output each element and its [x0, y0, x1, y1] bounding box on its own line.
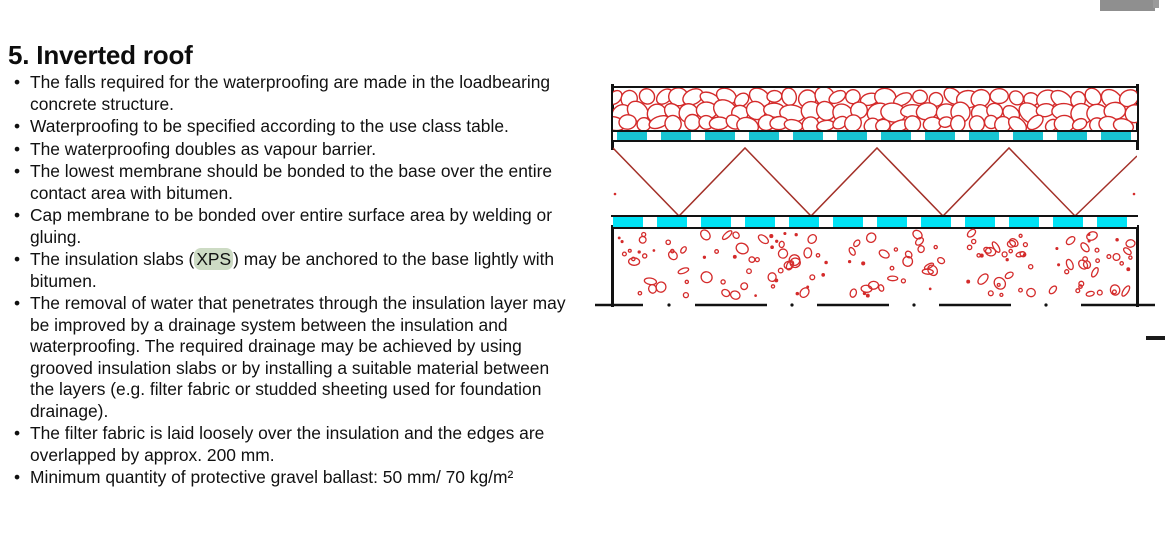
scan-artifact-mark — [1146, 336, 1165, 340]
membrane-segment — [921, 217, 951, 227]
membrane-segment — [657, 217, 687, 227]
bullet-marker: • — [14, 423, 20, 445]
list-item: • Cap membrane to be bonded over entire … — [8, 205, 574, 248]
rule-gravel-top — [613, 86, 1137, 88]
scan-artifact-right — [1153, 0, 1159, 8]
bullet-marker: • — [14, 72, 20, 94]
list-item-text: Minimum quantity of protective gravel ba… — [30, 467, 574, 489]
insulation-zigzag-icon — [613, 142, 1137, 218]
list-item-text: Waterproofing to be specified according … — [30, 116, 574, 138]
layer-gravel-ballast — [613, 88, 1137, 132]
section-baseline — [585, 299, 1165, 313]
list-item: • The falls required for the waterproofi… — [8, 72, 574, 115]
concrete-aggregate-icon — [613, 228, 1137, 302]
layer-xps-insulation — [613, 142, 1137, 218]
text-before-highlight: The insulation slabs ( — [30, 249, 194, 269]
list-item-text: The insulation slabs (XPS) may be anchor… — [30, 249, 574, 292]
membrane-segment — [613, 217, 643, 227]
list-item-text: The lowest membrane should be bonded to … — [30, 161, 574, 204]
membrane-segment — [1097, 217, 1127, 227]
bullet-marker: • — [14, 161, 20, 183]
membrane-segment — [877, 217, 907, 227]
membrane-segment — [789, 217, 819, 227]
bullet-marker: • — [14, 293, 20, 315]
membrane-segment — [1053, 217, 1083, 227]
list-item-text: Cap membrane to be bonded over entire su… — [30, 205, 574, 248]
membrane-segment — [1009, 217, 1039, 227]
list-item: • Minimum quantity of protective gravel … — [8, 467, 574, 489]
bullet-marker: • — [14, 116, 20, 138]
list-item: • The filter fabric is laid loosely over… — [8, 423, 574, 466]
list-item: • The lowest membrane should be bonded t… — [8, 161, 574, 204]
membrane-segment — [701, 217, 731, 227]
bullet-marker: • — [14, 467, 20, 489]
inverted-roof-section-diagram — [585, 70, 1165, 320]
membrane-segment — [965, 217, 995, 227]
membrane-segment — [833, 217, 863, 227]
list-item: • Waterproofing to be specified accordin… — [8, 116, 574, 138]
layer-loadbearing-concrete — [613, 228, 1137, 302]
list-item-text: The filter fabric is laid loosely over t… — [30, 423, 574, 466]
list-item-text: The waterproofing doubles as vapour barr… — [30, 139, 574, 161]
list-item: • The removal of water that penetrates t… — [8, 293, 574, 422]
page-title: 5. Inverted roof — [8, 40, 193, 71]
list-item-text: The removal of water that penetrates thr… — [30, 293, 574, 422]
list-item: • The waterproofing doubles as vapour ba… — [8, 139, 574, 161]
bullet-marker: • — [14, 205, 20, 227]
membrane-segment — [745, 217, 775, 227]
bullet-marker: • — [14, 249, 20, 271]
xps-highlight: XPS — [194, 248, 233, 270]
scan-artifact-top — [1100, 0, 1155, 11]
list-item-insulation-slabs: • The insulation slabs (XPS) may be anch… — [8, 249, 574, 292]
gravel-pebbles-icon — [613, 88, 1137, 132]
page-root: 5. Inverted roof • The falls required fo… — [0, 0, 1169, 559]
bullet-list: • The falls required for the waterproofi… — [8, 72, 574, 490]
text-column: 5. Inverted roof • The falls required fo… — [0, 0, 580, 559]
list-item-text: The falls required for the waterproofing… — [30, 72, 574, 115]
layer-waterproofing-band — [613, 217, 1137, 227]
bullet-marker: • — [14, 139, 20, 161]
dash-dot-line-icon — [585, 299, 1165, 313]
